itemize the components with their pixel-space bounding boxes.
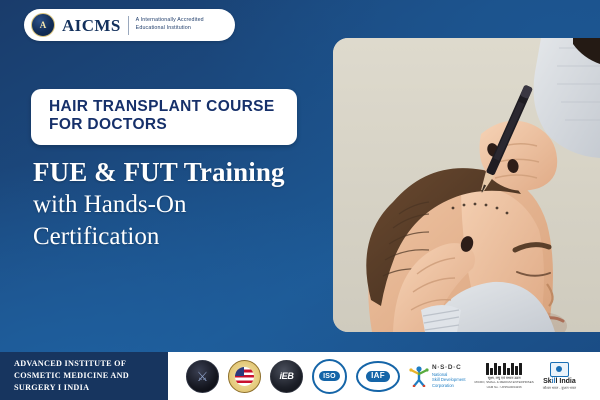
msme-mark-icon [486,363,523,375]
logo-divider [128,16,129,35]
course-kicker-badge: HAIR TRANSPLANT COURSE FOR DOCTORS [31,89,297,145]
badge-iso-certified-icon: ISO [312,359,347,394]
iaf-label: IAF [366,371,390,382]
skill-india-name: Skill India [543,378,576,386]
msme-line-3: UAM No.: UP25A0034236 [487,386,522,390]
footer-institute-name: ADVANCED INSTITUTE OF COSMETIC MEDICINE … [14,358,129,395]
course-kicker-text: HAIR TRANSPLANT COURSE FOR DOCTORS [49,98,275,135]
caduceus-glyph: ⚔ [197,370,209,383]
brand-logo: A AICMS A Internationally Accredited Edu… [24,9,235,41]
hair-transplant-photo [333,38,600,332]
badge-ieb-icon: iEB [270,360,303,393]
nsdc-full-name: National Skill Development Corporation [432,372,466,388]
badge-nsdc-logo: N·S·D·C National Skill Development Corpo… [409,364,466,388]
headline-line-2: with Hands-On [33,189,333,221]
brand-tagline: A Internationally Accredited Educational… [136,17,222,32]
headline-line-3: Certification [33,221,333,253]
skill-name-part-1: Sk [543,378,552,385]
badge-medical-seal-icon: ⚔ [186,360,219,393]
badge-iaf-icon: IAF [356,361,400,392]
skill-name-part-2: l India [556,378,576,385]
ieb-label: iEB [279,372,293,381]
badge-usa-accreditation-icon [228,360,261,393]
nsdc-figure-icon [409,365,429,387]
skill-india-subtitle: कौशल भारत - कुशल भारत [543,386,576,390]
footer-institute-panel: ADVANCED INSTITUTE OF COSMETIC MEDICINE … [0,352,168,400]
promo-banner: A AICMS A Internationally Accredited Edu… [0,0,600,400]
badge-msme-logo: सूक्ष्म, लघु एवं मध्यम उद्यम MICRO, SMAL… [475,363,534,390]
aicms-seal-icon: A [31,13,55,37]
iso-label: ISO [319,371,340,381]
accreditation-badge-row: ⚔ iEB ISO IAF [168,352,600,400]
skill-india-icon [550,362,569,377]
headline-line-1: FUE & FUT Training [33,156,333,189]
seal-monogram: A [40,21,47,30]
photo-illustration [333,38,600,332]
brand-wordmark: AICMS [62,17,121,34]
page-title: FUE & FUT Training with Hands-On Certifi… [33,156,333,253]
nsdc-abbreviation: N·S·D·C [432,364,466,372]
footer-bar: ADVANCED INSTITUTE OF COSMETIC MEDICINE … [0,352,600,400]
badge-skill-india-logo: Skill India कौशल भारत - कुशल भारत [543,362,576,391]
